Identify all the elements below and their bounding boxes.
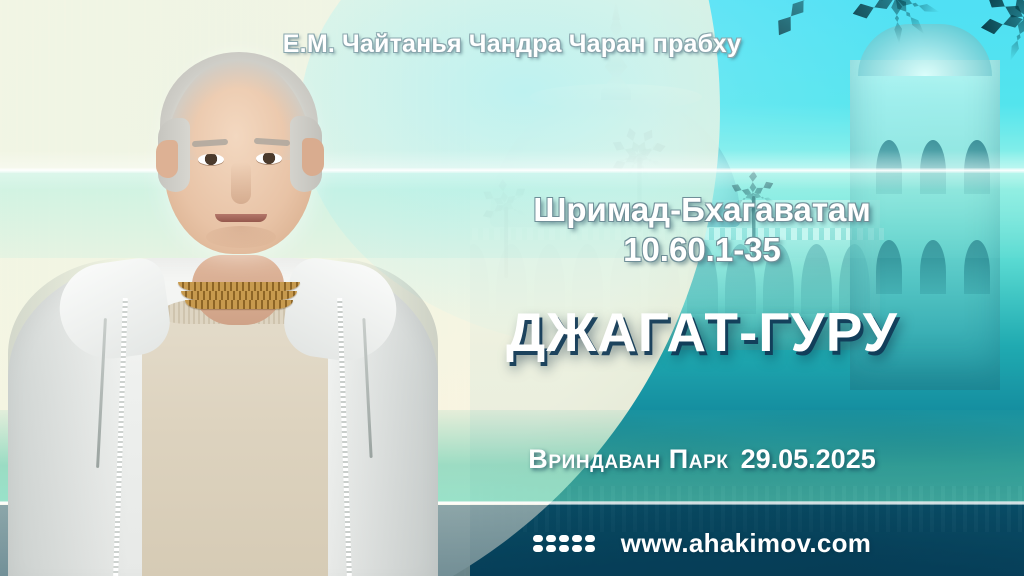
tulasi-beads — [178, 282, 300, 316]
ear-right — [302, 138, 324, 176]
speaker-name: Е.М. Чайтанья Чандра Чаран прабху — [0, 30, 1024, 59]
site-footer: www.ahakimov.com — [380, 522, 1024, 564]
mouth — [215, 214, 267, 222]
ahakimov-dots-logo-icon — [533, 535, 595, 552]
ear-left — [156, 140, 178, 178]
scripture-reference: Шримад-Бхагаватам 10.60.1-35 — [380, 190, 1024, 271]
speaker-portrait — [0, 0, 470, 576]
eye-left — [198, 154, 224, 165]
scripture-name: Шримад-Бхагаватам — [380, 190, 1024, 230]
date-label: 29.05.2025 — [741, 444, 876, 474]
website-url[interactable]: www.ahakimov.com — [621, 528, 871, 559]
chin — [206, 226, 276, 248]
lecture-announcement-slide: Е.М. Чайтанья Чандра Чаран прабху Шримад… — [0, 0, 1024, 576]
scripture-verses: 10.60.1-35 — [380, 230, 1024, 270]
page-title: ДЖАГАТ-ГУРУ — [380, 300, 1024, 364]
venue-and-date: Вриндаван Парк29.05.2025 — [380, 444, 1024, 475]
eye-right — [256, 153, 282, 164]
venue-label: Вриндаван Парк — [528, 444, 728, 474]
nose — [231, 162, 251, 204]
